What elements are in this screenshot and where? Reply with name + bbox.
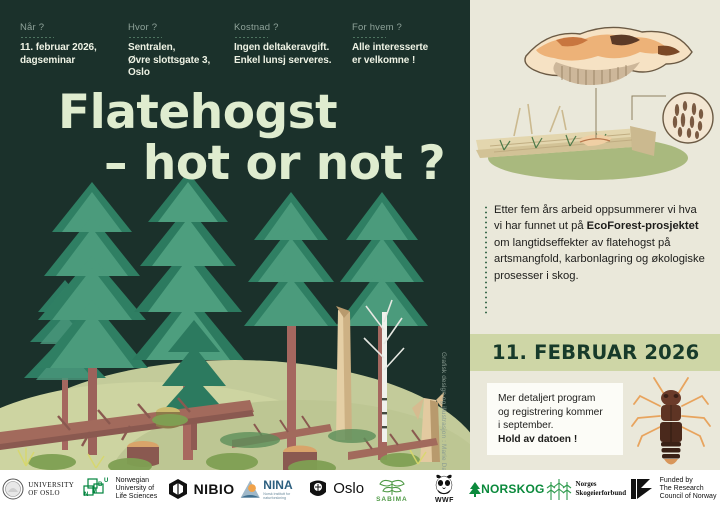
dotted-vertical-rule [484,205,487,315]
wwf-wordmark: WWF [435,497,454,504]
logo-oslo-kommune: Oslo [307,470,364,507]
nmbu-line-2: University of [116,485,158,493]
logo-norges-skogeierforbund: Norges Skogeierforbund [545,470,627,507]
program-line-3: i september. [498,419,623,433]
nmbu-mark-icon: NM BU [82,476,112,502]
project-name: EcoForest-prosjektet [587,220,699,232]
uio-line-2: OF OSLO [28,489,74,497]
nina-mark-icon [239,476,262,502]
date-banner: 11. FEBRUAR 2026 [470,334,720,371]
forest-illustration [0,0,470,470]
nina-wordmark: NINA [263,478,307,492]
svg-text:N: N [84,492,88,498]
fungus-illustration [470,0,720,188]
intro-paragraph: Etter fem års arbeid oppsummerer vi hva … [494,202,706,284]
nmbu-line-3: Life Sciences [116,493,158,501]
norskog-wordmark: NORSKOG [481,482,544,496]
right-column: Etter fem års arbeid oppsummerer vi hva … [470,0,720,470]
program-line-4: Hold av datoen ! [498,433,623,447]
nibio-wordmark: NIBIO [194,481,235,497]
left-panel: Når ? 11. februar 2026, dagseminar Hvor … [0,0,470,470]
logo-strip: UNIVERSITY OF OSLO NM BU Norwegian Unive… [0,470,720,507]
research-council-mark-icon [630,476,656,502]
program-line-1: Mer detaljert program [498,392,623,406]
logo-wwf: WWF [420,470,469,507]
skogeierforbund-line-1: Norges [576,480,627,489]
rcn-line-2: The Research [660,485,717,493]
logo-nibio: NIBIO [162,470,238,507]
poster: Når ? 11. februar 2026, dagseminar Hvor … [0,0,720,507]
sabima-wordmark: SABIMA [376,496,408,503]
program-info-box: Mer detaljert program og registrering ko… [487,383,623,455]
svg-text:M: M [92,489,97,495]
program-text: Mer detaljert program og registrering ko… [487,383,623,446]
oslo-coat-of-arms-icon [307,477,329,501]
date-banner-text: 11. FEBRUAR 2026 [470,341,699,364]
logo-norskog: NORSKOG [469,470,544,507]
rcn-line-1: Funded by [660,477,717,485]
logo-nina: NINA Norsk institutt for naturforskning [239,470,307,507]
skogeierforbund-trees-icon [545,476,573,502]
logo-research-council-norway: Funded by The Research Council of Norway [626,470,720,507]
sabima-leaf-icon [375,474,409,496]
uio-seal-icon [2,478,24,500]
paragraph-part-2: om langtidseffekter av flatehogst på art… [494,237,705,282]
skogeierforbund-line-2: Skogeierforbund [576,489,627,498]
logo-nmbu: NM BU Norwegian University of Life Scien… [76,470,162,507]
nina-subtitle: Norsk institutt for naturforskning [263,492,307,500]
uio-line-1: UNIVERSITY [28,481,74,489]
rcn-line-3: Council of Norway [660,493,717,501]
beetle-illustration [628,372,714,470]
nmbu-line-1: Norwegian [116,477,158,485]
logo-university-of-oslo: UNIVERSITY OF OSLO [0,470,76,507]
svg-text:B: B [98,482,103,488]
norskog-tree-icon [469,481,481,497]
logo-sabima: SABIMA [364,470,420,507]
program-line-2: og registrering kommer [498,406,623,420]
wwf-panda-icon [431,473,457,497]
svg-text:U: U [104,478,108,484]
credit-text: Grafisk design og illustrasjon : Marie D… [440,352,447,470]
nibio-cube-icon [167,477,189,501]
oslo-wordmark: Oslo [333,480,364,497]
